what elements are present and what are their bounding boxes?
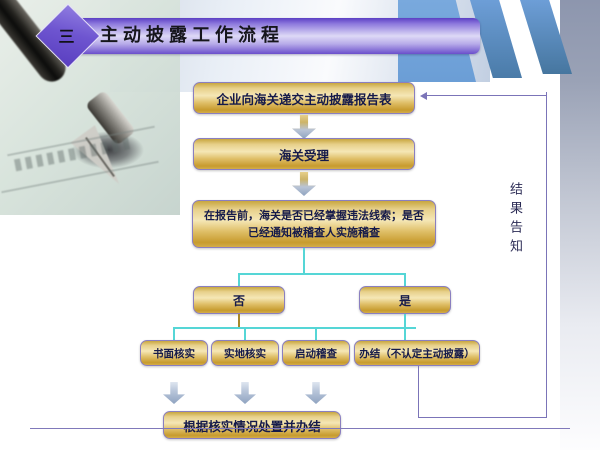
footer-divider	[30, 428, 570, 429]
return-arrow-icon	[420, 92, 427, 100]
arrow-down-icon	[292, 115, 316, 139]
return-path-label: 结果告知	[505, 182, 523, 258]
flow-box-close-case[interactable]: 办结（不认定主动披露）	[354, 340, 480, 366]
connector-decision-down	[303, 248, 305, 274]
connector-to-written-check	[173, 327, 175, 340]
page-title: 主动披露工作流程	[100, 22, 430, 50]
connector-no-split	[173, 327, 416, 329]
flow-box-onsite-check[interactable]: 实地核实	[211, 340, 279, 366]
arrow-down-icon	[234, 382, 256, 404]
connector-to-no	[238, 273, 240, 286]
slide-canvas: 三 主动披露工作流程 企业向海关递交主动披露报告表 海关受理 在报告前，海关是否…	[0, 0, 600, 450]
return-path-segment-from-close	[418, 366, 419, 418]
arrow-down-icon	[292, 172, 316, 196]
connector-decision-split	[238, 273, 406, 275]
flow-box-customs-accept[interactable]: 海关受理	[193, 138, 415, 170]
connector-to-onsite-check	[244, 327, 246, 340]
flow-decision-text: 在报告前，海关是否已经掌握违法线索；是否已经通知被稽查人实施稽查	[193, 207, 435, 241]
connector-no-down	[238, 314, 240, 328]
return-path-segment-bottom	[418, 417, 547, 418]
arrow-down-icon	[163, 382, 185, 404]
chevron-mask	[398, 82, 560, 122]
flow-box-decision[interactable]: 在报告前，海关是否已经掌握违法线索；是否已经通知被稽查人实施稽查	[192, 200, 436, 248]
section-number: 三	[45, 13, 89, 57]
flow-box-start-audit[interactable]: 启动稽查	[282, 340, 350, 366]
return-path-segment-vertical	[546, 92, 547, 418]
flow-box-branch-yes[interactable]: 是	[359, 286, 451, 314]
flow-box-written-check[interactable]: 书面核实	[140, 340, 208, 366]
connector-yes-down	[404, 314, 406, 340]
flow-box-submit-report[interactable]: 企业向海关递交主动披露报告表	[193, 82, 415, 114]
flow-box-branch-no[interactable]: 否	[193, 286, 285, 314]
connector-to-yes	[404, 273, 406, 286]
connector-to-start-audit	[315, 327, 317, 340]
return-path-segment-top	[426, 95, 547, 96]
flow-box-final-disposal[interactable]: 根据核实情况处置并办结	[163, 411, 341, 439]
arrow-down-icon	[305, 382, 327, 404]
